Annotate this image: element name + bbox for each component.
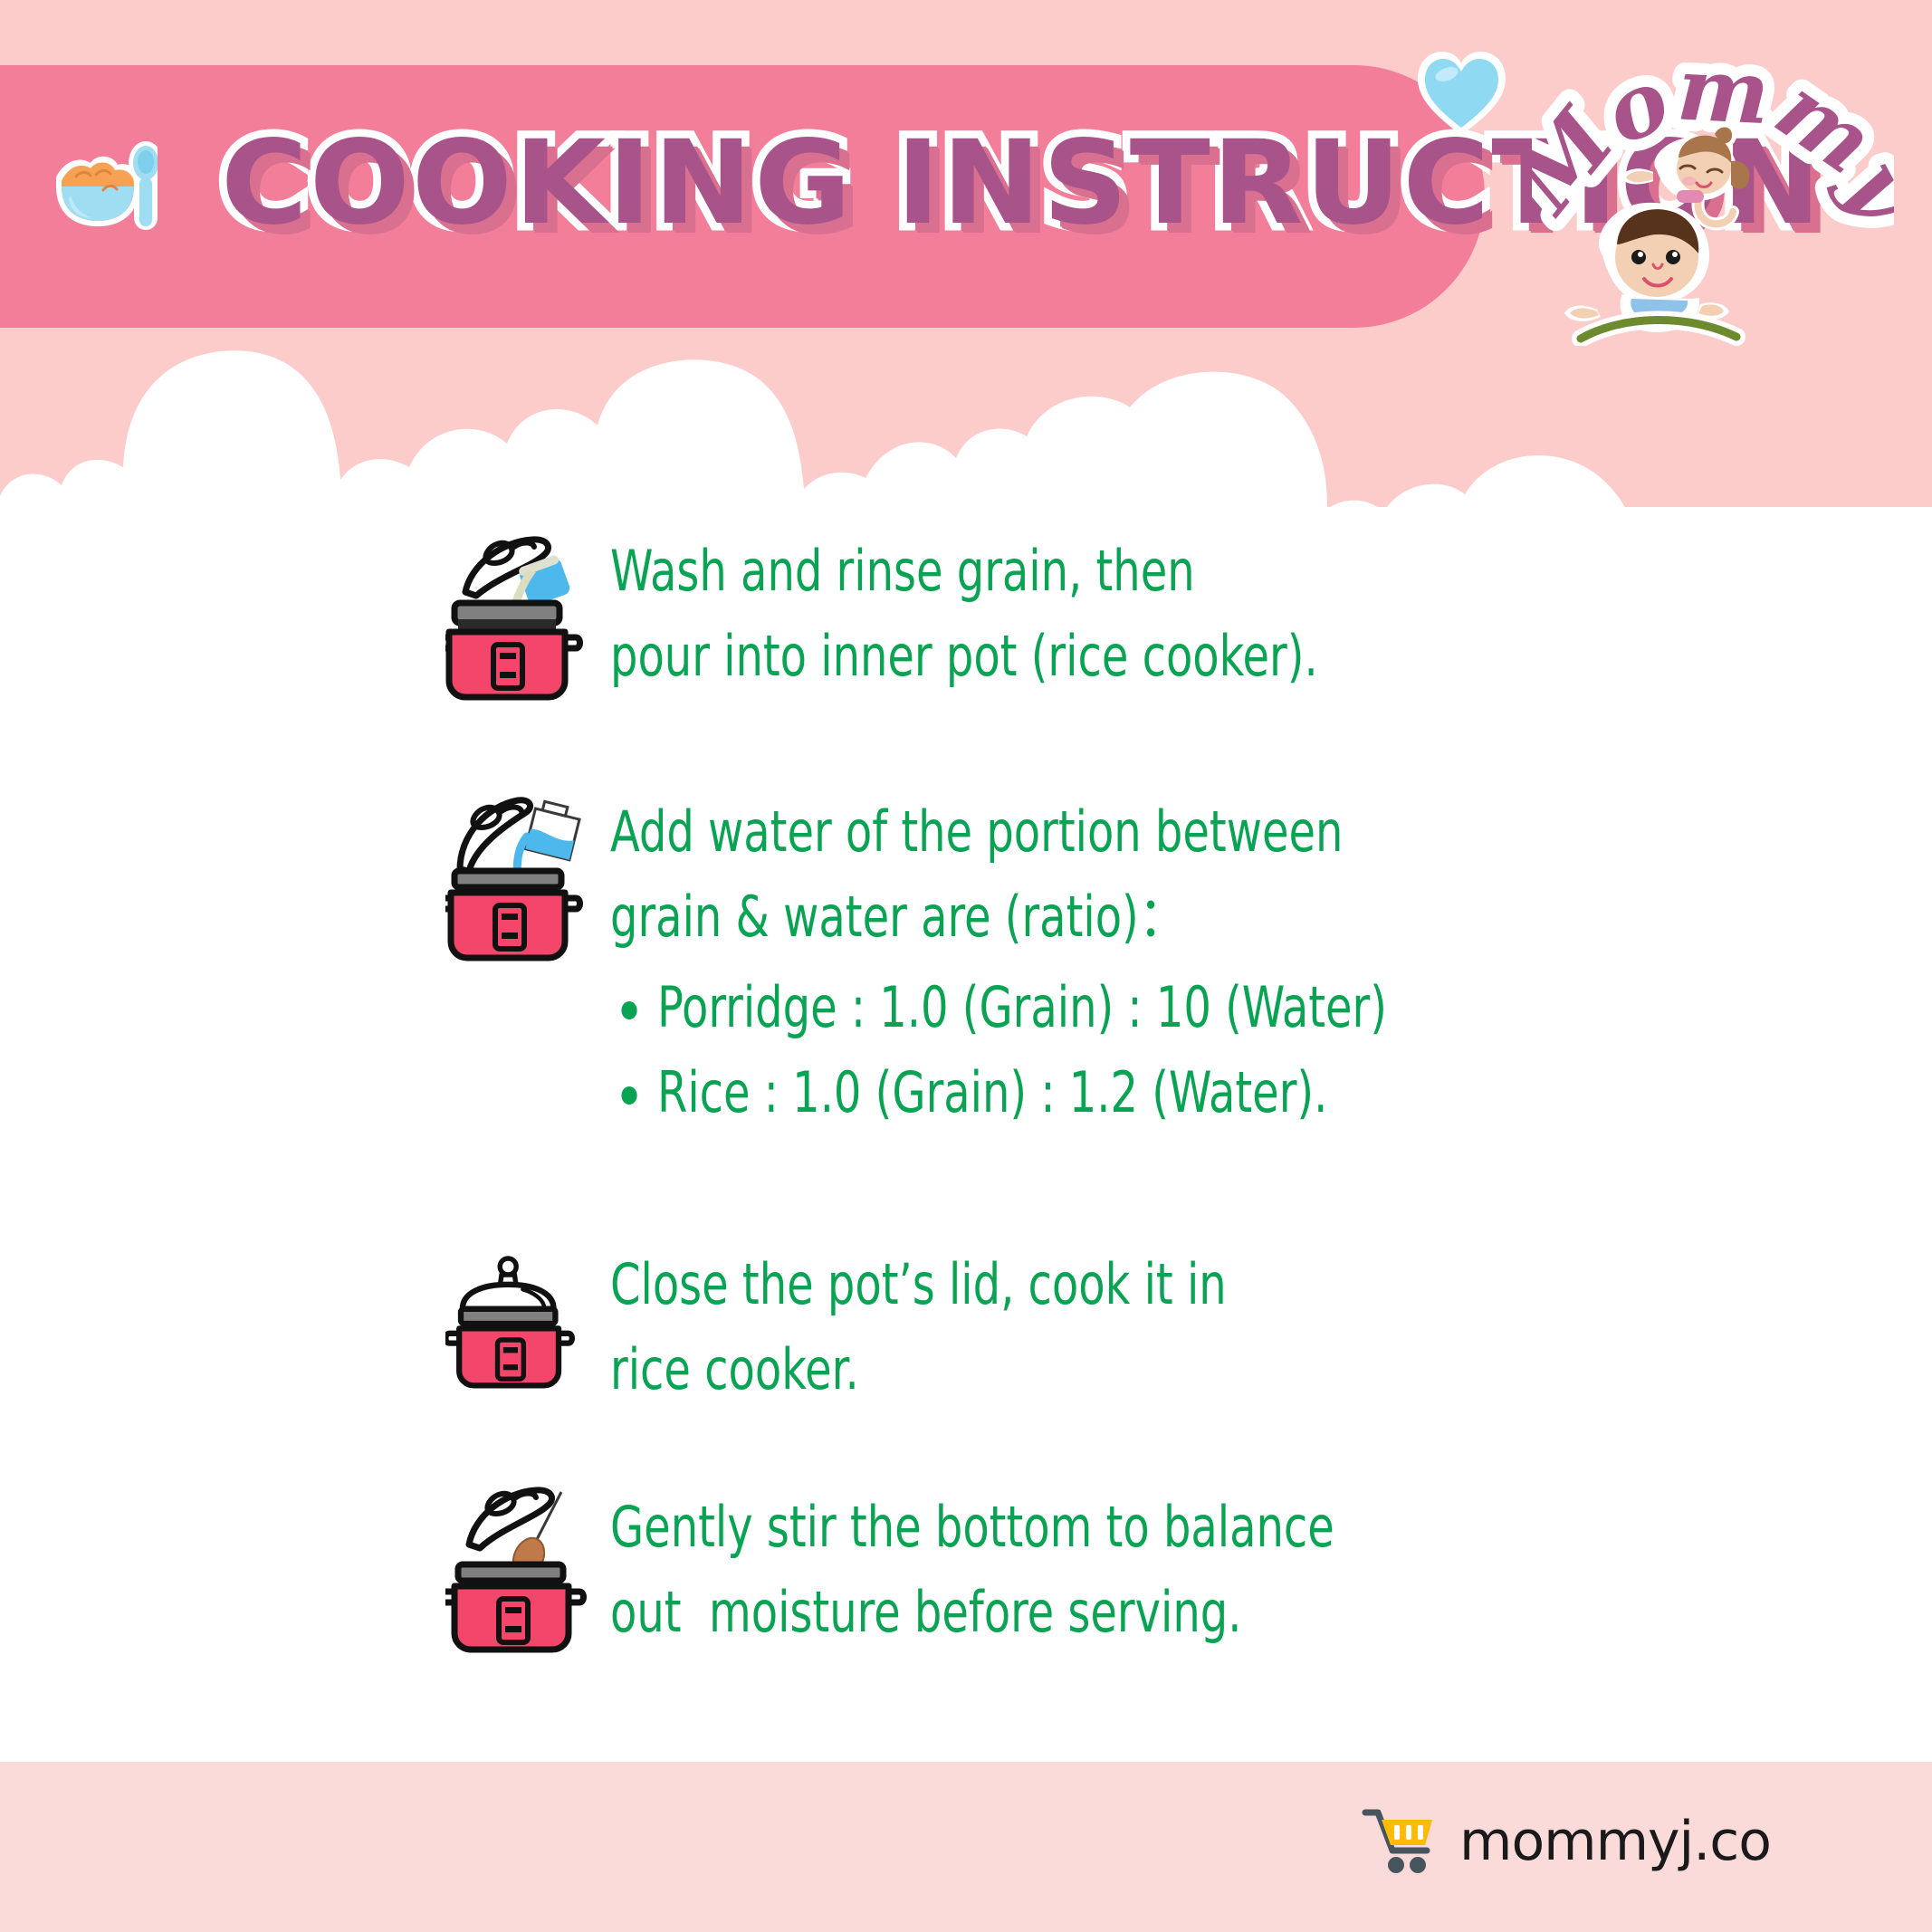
step-line: Wash and rinse grain, then: [610, 529, 1318, 614]
rice-cooker-closed-lid-icon: [445, 1242, 590, 1423]
step-body: Close the pot’s lid, cook it in rice coo…: [590, 1242, 1327, 1412]
instruction-step: Wash and rinse grain, then pour into inn…: [445, 525, 1433, 706]
step-line: Add water of the portion between: [610, 789, 1381, 875]
step-line: rice cooker.: [610, 1327, 1227, 1412]
ratio-item: Porridge : 1.0 (Grain) : 10 (Water): [657, 965, 1387, 1050]
step-line: out moisture before serving.: [610, 1570, 1334, 1655]
step-body: Add water of the portion between grain &…: [590, 786, 1506, 1135]
step-line: grain & water are (ratio)：: [610, 875, 1381, 960]
step-body: Wash and rinse grain, then pour into inn…: [590, 525, 1433, 699]
shopping-cart-icon: [1362, 1805, 1439, 1878]
step-body: Gently stir the bottom to balance out mo…: [590, 1478, 1452, 1655]
page-title-wrap: COOKING INSTRUCTION: [221, 116, 1416, 261]
footer-url[interactable]: mommyj.co: [1459, 1810, 1771, 1873]
ratio-item: Rice : 1.0 (Grain) : 1.2 (Water).: [657, 1050, 1387, 1135]
rice-cooker-pour-grain-icon: [445, 525, 590, 706]
step-line: pour into inner pot (rice cooker).: [610, 614, 1318, 699]
instruction-step: Close the pot’s lid, cook it in rice coo…: [445, 1242, 1327, 1423]
footer-brand-link[interactable]: mommyj.co: [1362, 1805, 1771, 1878]
rice-cooker-stir-spoon-icon: [445, 1478, 590, 1659]
rice-cooker-pour-water-icon: [445, 786, 590, 967]
step-line: Gently stir the bottom to balance: [610, 1485, 1334, 1570]
page-title: COOKING INSTRUCTION: [221, 116, 1439, 252]
step-line: Close the pot’s lid, cook it in: [610, 1242, 1227, 1327]
heart-icon: [1414, 47, 1509, 138]
footer: mommyj.co: [0, 1762, 1932, 1932]
poster-canvas: COOKING INSTRUCTION Mommy J Mommy J: [0, 0, 1932, 1932]
ratio-list: Porridge : 1.0 (Grain) : 10 (Water) Rice…: [610, 965, 1506, 1135]
instruction-step: Gently stir the bottom to balance out mo…: [445, 1478, 1452, 1659]
instruction-step: Add water of the portion between grain &…: [445, 786, 1506, 1135]
bowl-spoon-icon: [40, 136, 158, 235]
